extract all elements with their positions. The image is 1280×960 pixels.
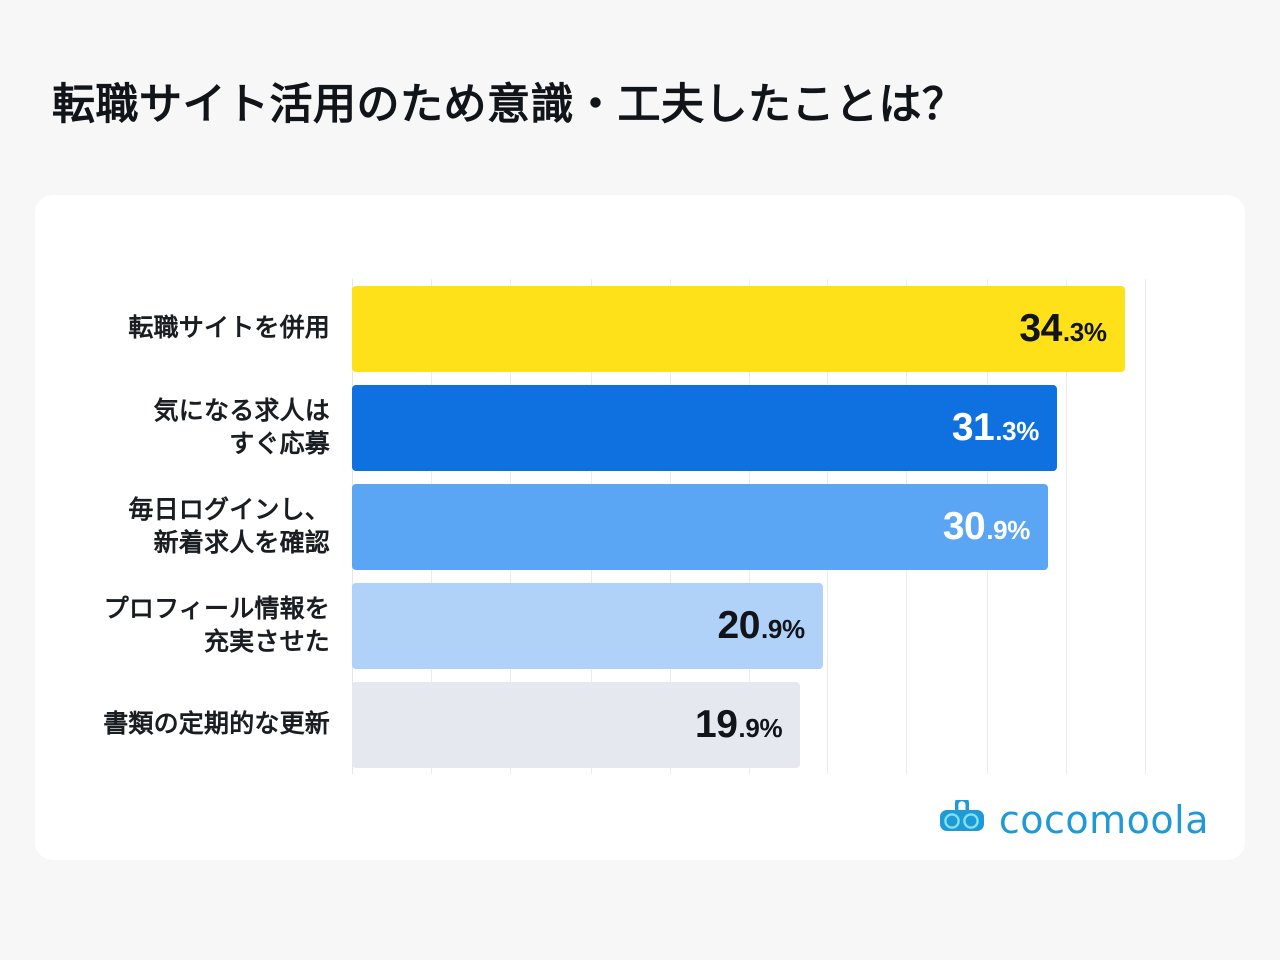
category-label-line: 書類の定期的な更新 [30, 708, 330, 741]
category-label-line: 新着求人を確認 [30, 527, 330, 560]
bar: 20.9% [352, 583, 823, 669]
bar-row: 20.9% [352, 583, 1145, 669]
bar-value-decimal: .9% [986, 517, 1030, 543]
bar-row: 34.3% [352, 286, 1145, 372]
bar-value-decimal: .3% [1063, 319, 1107, 345]
bar-value-integer: 34 [1019, 309, 1061, 348]
bar-row: 31.3% [352, 385, 1145, 471]
bar: 31.3% [352, 385, 1057, 471]
page-title: 転職サイト活用のため意識・工夫したことは？ [52, 70, 966, 132]
bar-value-decimal: .9% [738, 715, 782, 741]
bar-series: 34.3%31.3%30.9%20.9%19.9% [352, 279, 1145, 774]
bar-chart: 転職サイトを併用気になる求人はすぐ応募毎日ログインし、新着求人を確認プロフィール… [35, 195, 1245, 860]
bar-value-label: 31.3% [952, 408, 1039, 447]
category-label-line: 転職サイトを併用 [30, 312, 330, 345]
bar-value-decimal: .3% [995, 418, 1039, 444]
bar: 30.9% [352, 484, 1048, 570]
category-label-line: 充実させた [30, 626, 330, 659]
bar-value-integer: 20 [718, 606, 760, 645]
bar-row: 30.9% [352, 484, 1145, 570]
category-axis-labels: 転職サイトを併用気になる求人はすぐ応募毎日ログインし、新着求人を確認プロフィール… [35, 279, 330, 774]
category-label: 毎日ログインし、新着求人を確認 [30, 494, 330, 560]
bar-row: 19.9% [352, 682, 1145, 768]
gridline [1145, 279, 1146, 774]
bar-value-label: 19.9% [695, 705, 782, 744]
plot-area: 34.3%31.3%30.9%20.9%19.9% [352, 279, 1145, 774]
category-label-line: プロフィール情報を [30, 593, 330, 626]
bar-value-integer: 19 [695, 705, 737, 744]
category-label-line: すぐ応募 [30, 428, 330, 461]
bar: 19.9% [352, 682, 800, 768]
bar-value-label: 20.9% [718, 606, 805, 645]
category-label: プロフィール情報を充実させた [30, 593, 330, 659]
category-label-line: 気になる求人は [30, 395, 330, 428]
brand-name: cocomoola [999, 798, 1209, 842]
bar: 34.3% [352, 286, 1125, 372]
bar-value-label: 34.3% [1019, 309, 1106, 348]
category-label: 書類の定期的な更新 [30, 708, 330, 741]
binoculars-icon [939, 800, 985, 840]
bar-value-decimal: .9% [761, 616, 805, 642]
bar-value-integer: 30 [943, 507, 985, 546]
bar-value-integer: 31 [952, 408, 994, 447]
chart-card: 転職サイトを併用気になる求人はすぐ応募毎日ログインし、新着求人を確認プロフィール… [35, 195, 1245, 860]
category-label-line: 毎日ログインし、 [30, 494, 330, 527]
category-label: 気になる求人はすぐ応募 [30, 395, 330, 461]
category-label: 転職サイトを併用 [30, 312, 330, 345]
brand-logo: cocomoola [939, 798, 1209, 842]
bar-value-label: 30.9% [943, 507, 1030, 546]
